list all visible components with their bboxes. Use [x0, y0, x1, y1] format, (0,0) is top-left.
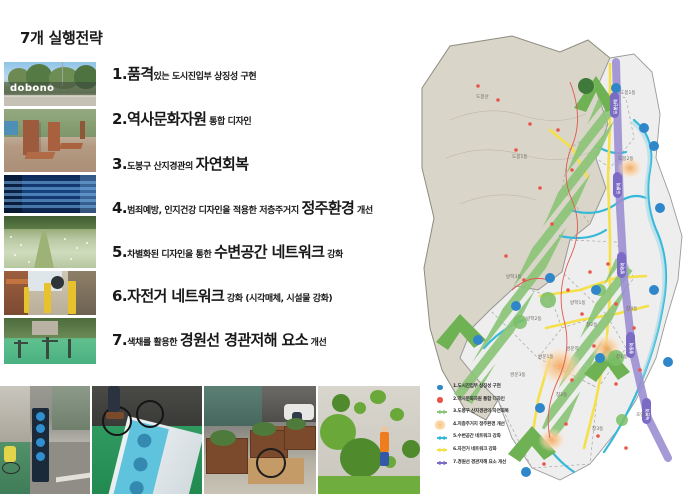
- strategy-number: 3.: [112, 155, 127, 173]
- strategy-text-part: 역사문화자원: [127, 110, 206, 128]
- legend-arrow-icon: [431, 457, 453, 469]
- strategy-text-part: 경원선 경관저해 요소: [180, 331, 308, 349]
- strategy-item-5: 5.차별화된 디자인을 통한 수변공간 네트워크 강화: [112, 244, 343, 260]
- svg-text:도봉산역: 도봉산역: [612, 99, 618, 114]
- moss-green-wall-photo: [318, 386, 420, 494]
- svg-text:방학3동: 방학3동: [506, 273, 522, 280]
- strategy-item-1: 1.품격있는 도시진입부 상징성 구현: [112, 66, 256, 82]
- strategy-text-part: 품격: [127, 65, 153, 83]
- legend-label: 7.경원선 경관저해 요소 개선: [453, 461, 506, 466]
- strategy-text-part: 색채를 활용한: [127, 338, 180, 348]
- svg-text:쌍문3동: 쌍문3동: [510, 371, 526, 378]
- strategy-number: 6.: [112, 287, 127, 305]
- strategy-text-part: 차별화된 디자인을 통한: [127, 250, 214, 260]
- strategy-item-3: 3.도봉구 산지경관의 자연회복: [112, 156, 248, 172]
- svg-text:창2동: 창2동: [586, 321, 597, 328]
- svg-text:도봉1동: 도봉1동: [512, 154, 528, 160]
- page-title: 7개 실행전략: [20, 27, 103, 48]
- legend-dot-icon: [431, 381, 453, 393]
- legend-arrow-icon: [431, 406, 453, 418]
- strategy-number: 1.: [112, 65, 127, 83]
- legend-blob-icon: [431, 419, 453, 431]
- legend-arrow-icon: [431, 444, 453, 456]
- strategy-item-4: 4.범죄예방, 인지건강 디자인을 적용한 저층주거지 정주환경 개선: [112, 200, 373, 216]
- strategy-item-6: 6.자전거 네트워크 강화 (시각매체, 시설물 강화): [112, 288, 332, 304]
- strategy-text-part: 강화 (시각매체, 시설물 강화): [224, 294, 332, 304]
- blue-stair-photo: [4, 175, 96, 213]
- strategy-text-part: 개선: [354, 206, 373, 216]
- svg-text:창4동: 창4동: [626, 305, 637, 312]
- strategy-text-part: 통합 디자인: [206, 117, 251, 127]
- legend-row-5: 5.수변공간 네트워크 강화: [431, 431, 551, 444]
- legend-label: 1.도시진입부 상징성 구현: [453, 385, 501, 390]
- green-bike-lane-kerb-photo: [92, 386, 202, 494]
- strategy-text-part: 개선: [308, 338, 327, 348]
- strategy-text-part: 있는 도시진입부 상징성 구현: [154, 72, 257, 82]
- svg-text:방학2동: 방학2동: [526, 315, 542, 322]
- svg-text:도봉1동: 도봉1동: [620, 90, 636, 96]
- bottom-photo-strip: [0, 386, 420, 494]
- strategy-text-part: 정주환경: [301, 199, 354, 217]
- legend-row-4: 4.저층주거지 정주환경 개선: [431, 419, 551, 432]
- legend-dot-icon: [431, 394, 453, 406]
- strategy-text-part: 도봉구 산지경관의: [127, 162, 196, 172]
- svg-text:창동역: 창동역: [628, 343, 634, 354]
- legend-label: 5.수변공간 네트워크 강화: [453, 435, 501, 440]
- yellow-bollard-alley-photo: [4, 271, 96, 315]
- svg-text:창3동: 창3동: [592, 425, 603, 432]
- slide-canvas: 7개 실행전략 dobono: [0, 0, 699, 494]
- strategy-number: 5.: [112, 243, 127, 261]
- strategy-text-part: 수변공간 네트워크: [214, 243, 324, 261]
- legend-row-2: 2.역사문화자원 통합 디자인: [431, 394, 551, 407]
- bike-lane-wayfinding-totem-photo: [0, 386, 90, 494]
- svg-text:도봉2동: 도봉2동: [618, 156, 634, 162]
- legend-label: 2.역사문화자원 통합 디자인: [453, 398, 505, 403]
- svg-text:쌍문역: 쌍문역: [566, 345, 579, 352]
- svg-text:방학1동: 방학1동: [570, 299, 586, 306]
- legend-row-3: 3.도봉구 산지경관의 자연회복: [431, 406, 551, 419]
- strategy-text-part: 범죄예방, 인지건강 디자인을 적용한 저층주거지: [127, 206, 301, 216]
- strategy-number: 4.: [112, 199, 127, 217]
- legend-row-7: 7.경원선 경관저해 요소 개선: [431, 457, 551, 470]
- svg-text:녹천역: 녹천역: [644, 409, 650, 420]
- strategy-item-7: 7.색채를 활용한 경원선 경관저해 요소 개선: [112, 332, 326, 348]
- strategy-text-part: 자연회복: [196, 155, 249, 173]
- strategy-number: 7.: [112, 331, 127, 349]
- dobono-logo-text: dobono: [10, 82, 90, 95]
- legend-row-1: 1.도시진입부 상징성 구현: [431, 381, 551, 394]
- street-parklet-photo: [204, 386, 316, 494]
- strategy-text-part: 자전거 네트워크: [127, 287, 224, 305]
- strategy-item-2: 2.역사문화자원 통합 디자인: [112, 111, 251, 127]
- city-gateway-sign-photo: dobono: [4, 62, 96, 106]
- svg-text:도봉산: 도봉산: [476, 93, 489, 100]
- corten-sculpture-plaza-photo: [4, 109, 96, 172]
- svg-text:도봉역: 도봉역: [615, 183, 621, 194]
- legend-label: 3.도봉구 산지경관의 자연회복: [453, 410, 509, 415]
- green-playground-photo: [4, 318, 96, 364]
- left-photo-column: dobono: [4, 62, 96, 367]
- svg-text:쌍문1동: 쌍문1동: [538, 353, 554, 360]
- legend-arrow-icon: [431, 432, 453, 444]
- gateway-node: [578, 78, 594, 94]
- strategy-text-part: 강화: [324, 250, 343, 260]
- wildflower-meadow-path-photo: [4, 216, 96, 268]
- svg-text:창1동: 창1동: [616, 353, 627, 360]
- legend-label: 4.저층주거지 정주환경 개선: [453, 423, 505, 428]
- svg-text:방학역: 방학역: [619, 263, 625, 274]
- svg-text:창2동: 창2동: [556, 391, 567, 398]
- legend-row-6: 6.자전거 네트워크 강화: [431, 444, 551, 457]
- map-legend: 1.도시진입부 상징성 구현2.역사문화자원 통합 디자인3.도봉구 산지경관의…: [431, 381, 551, 469]
- legend-label: 6.자전거 네트워크 강화: [453, 448, 497, 453]
- strategy-number: 2.: [112, 110, 127, 128]
